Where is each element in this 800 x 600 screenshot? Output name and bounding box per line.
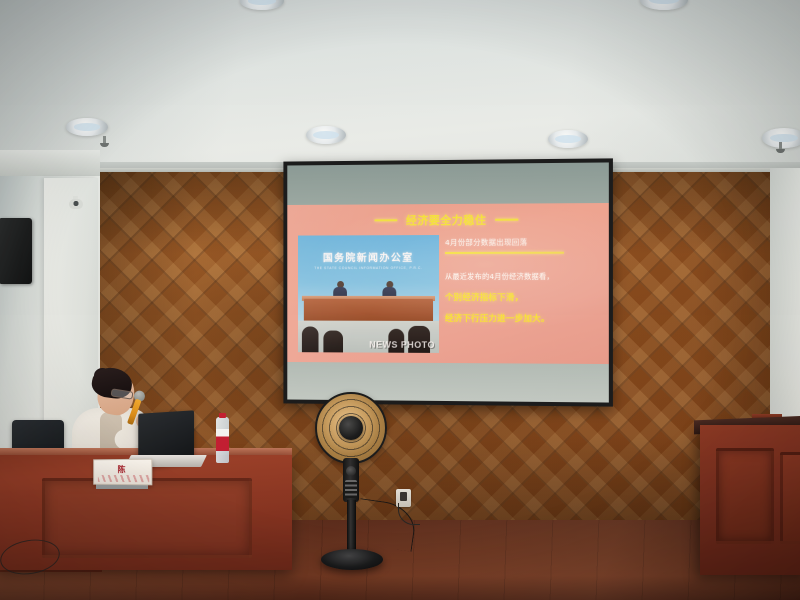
subtitle-underline <box>445 252 564 254</box>
fan-oscillation-knob[interactable] <box>346 466 356 476</box>
name-card-decoration <box>98 475 149 482</box>
sprinkler-head <box>778 142 783 154</box>
podium-front-panel <box>42 478 252 558</box>
title-dash-left-icon <box>374 220 397 222</box>
slide-title-row: 经济要全力稳住 <box>287 211 609 229</box>
room-scene: 经济要全力稳住 国务院新闻办公室 THE STATE COUNCIL INFOR… <box>0 0 800 600</box>
right-podium-panel <box>716 448 774 544</box>
ceiling-shading <box>0 0 800 172</box>
bottle-cap <box>219 413 226 418</box>
fan-base <box>321 549 383 570</box>
photo-watermark: NEWS PHOTO <box>369 340 435 350</box>
title-dash-right-icon <box>495 219 518 221</box>
slide-title: 经济要全力稳住 <box>406 212 486 228</box>
photo-banner: 国务院新闻办公室 THE STATE COUNCIL INFORMATION O… <box>298 249 439 270</box>
fan-pole <box>347 500 356 554</box>
fan-hub <box>339 416 363 440</box>
power-plug-icon <box>400 492 407 501</box>
water-bottle <box>216 413 229 463</box>
ceiling-downlight <box>66 118 108 136</box>
slide-photo: 国务院新闻办公室 THE STATE COUNCIL INFORMATION O… <box>298 235 439 353</box>
wall-speaker-icon <box>0 218 32 284</box>
photo-banner-chinese: 国务院新闻办公室 <box>298 249 439 264</box>
slide-paragraph: 从最近发布的4月份经济数据看， <box>445 272 600 282</box>
bottle-label <box>216 429 229 451</box>
pedestal-fan[interactable] <box>305 392 397 574</box>
left-wall-beam <box>0 150 100 176</box>
right-podium-panel-side <box>780 452 800 544</box>
slide-body: 4月份部分数据出现回落 从最近发布的4月份经济数据看， 个别经济指标下滑， 经济… <box>445 237 600 325</box>
name-card: 陈 <box>93 459 152 486</box>
ceiling-downlight <box>548 130 588 148</box>
sprinkler-head <box>102 136 107 148</box>
presentation-slide[interactable]: 经济要全力稳住 国务院新闻办公室 THE STATE COUNCIL INFOR… <box>287 203 609 364</box>
slide-highlight-2: 经济下行压力进一步加大。 <box>445 312 600 325</box>
screen-blank-top-band <box>287 162 609 205</box>
projection-screen[interactable]: 经济要全力稳住 国务院新闻办公室 THE STATE COUNCIL INFOR… <box>283 158 613 406</box>
audience-silhouette <box>302 327 319 353</box>
slide-highlight-1: 个别经济指标下滑， <box>445 291 600 303</box>
name-card-text: 陈 <box>94 464 151 475</box>
security-camera-icon <box>69 196 83 209</box>
fan-speed-buttons[interactable] <box>345 480 357 498</box>
slide-subtitle: 4月份部分数据出现回落 <box>445 237 600 249</box>
screen-surface: 经济要全力稳住 国务院新闻办公室 THE STATE COUNCIL INFOR… <box>287 162 609 402</box>
audience-silhouette <box>323 331 343 353</box>
photo-banner-english: THE STATE COUNCIL INFORMATION OFFICE, P.… <box>298 266 439 270</box>
ceiling-downlight <box>306 126 346 144</box>
